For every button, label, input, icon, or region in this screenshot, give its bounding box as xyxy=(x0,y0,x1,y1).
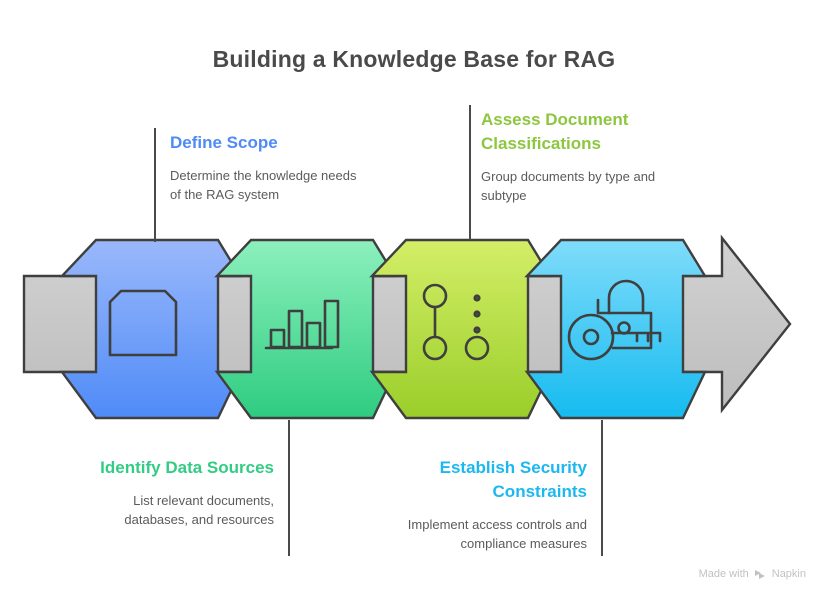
divider-step-3 xyxy=(469,105,471,240)
made-with-napkin-footer[interactable]: Made with Napkin xyxy=(699,568,806,580)
callout-step-3-heading: Assess Document Classifications xyxy=(481,108,671,156)
divider-step-1 xyxy=(154,128,156,242)
divider-step-2 xyxy=(288,420,290,556)
made-with-label: Made with xyxy=(699,568,749,580)
callout-step-4: Establish Security Constraints Implement… xyxy=(387,456,587,553)
callout-step-1-heading: Define Scope xyxy=(170,131,370,155)
callout-step-1-body: Determine the knowledge needs of the RAG… xyxy=(170,166,370,204)
callout-step-1: Define Scope Determine the knowledge nee… xyxy=(170,131,370,204)
callout-step-4-body: Implement access controls and compliance… xyxy=(387,515,587,553)
infographic-canvas: Building a Knowledge Base for RAG xyxy=(0,0,828,600)
napkin-brand-label: Napkin xyxy=(772,568,806,580)
callout-step-2-body: List relevant documents, databases, and … xyxy=(74,491,274,529)
callout-step-3: Assess Document Classifications Group do… xyxy=(481,108,671,205)
divider-step-4 xyxy=(601,420,603,556)
callout-step-2: Identify Data Sources List relevant docu… xyxy=(74,456,274,529)
callout-step-4-heading: Establish Security Constraints xyxy=(387,456,587,504)
napkin-logo-icon xyxy=(754,569,767,580)
callout-step-2-heading: Identify Data Sources xyxy=(74,456,274,480)
callout-step-3-body: Group documents by type and subtype xyxy=(481,167,671,205)
